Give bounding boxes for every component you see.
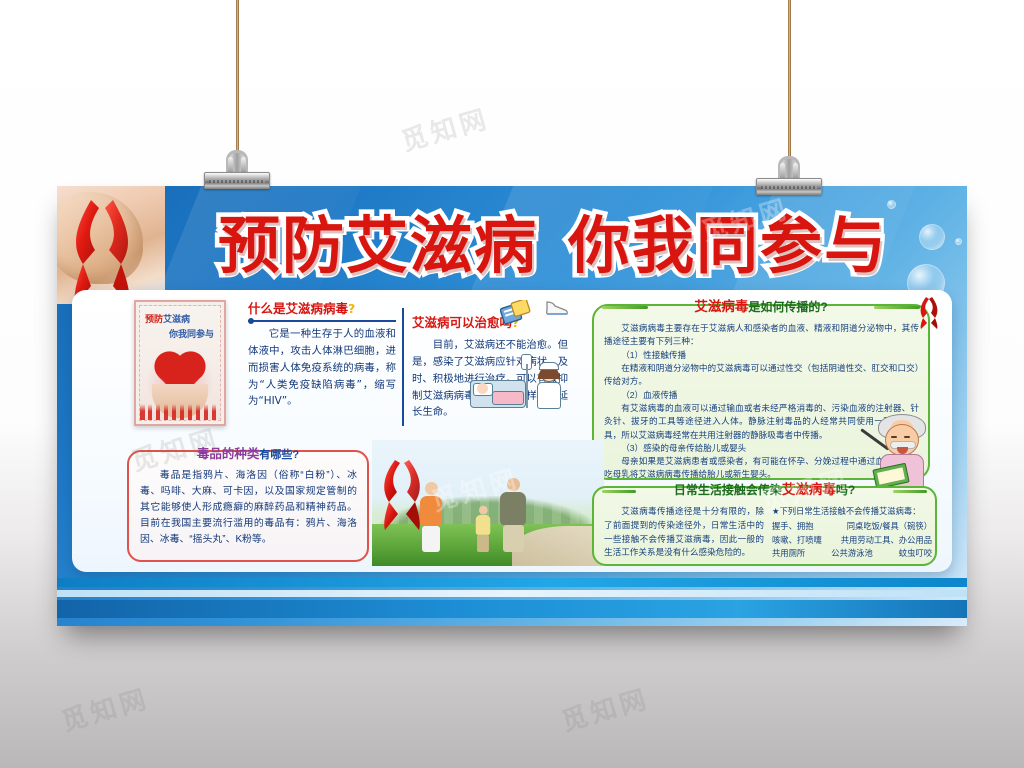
legs-icon — [422, 526, 440, 552]
transmission-item2-title: （2）血液传播 — [604, 389, 919, 402]
daily-life-item: 握手、拥抱 — [772, 520, 814, 533]
bottom-bar-2 — [57, 590, 967, 597]
heading-part-c: 吗? — [836, 483, 855, 497]
blanket-icon — [492, 391, 524, 405]
section-body: 它是一种生存于人的血液和体液中，攻击人体淋巴细胞，进而损害人体免疫系统的病毒，称… — [248, 326, 396, 410]
patient-face-icon — [477, 383, 488, 394]
transmission-item1-title: （1）性接触传播 — [604, 349, 919, 362]
heading-text: 艾滋病可以治愈吗 — [412, 315, 512, 330]
drug-types-box: 毒品的种类有哪些? 毒品是指鸦片、海洛因（俗称“白粉”）、冰毒、吗啡、大麻、可卡… — [127, 450, 369, 562]
heading-rule — [248, 320, 396, 322]
heading-part-a: 日常生活接触会传染 — [674, 483, 782, 497]
mini-poster-inner: 预防艾滋病 你我同参与 — [139, 305, 221, 421]
torso-icon — [476, 515, 491, 535]
heading-blue-text: 有哪些? — [259, 449, 299, 461]
mini-poster-card: 预防艾滋病 你我同参与 — [134, 300, 226, 426]
person-mother-icon — [420, 482, 442, 552]
daily-life-row: 共用厕所 公共游泳池 蚊虫叮咬 — [772, 547, 932, 560]
iv-pole-icon — [526, 364, 528, 408]
heading-red-text: 艾滋病毒 — [694, 299, 748, 314]
daily-life-row: 咳嗽、打喷嚏 共用劳动工具、办公用品 — [772, 534, 932, 547]
bottom-bar-3 — [57, 600, 967, 618]
head-icon — [425, 482, 438, 495]
red-ribbon-icon — [61, 194, 145, 304]
clip-jaw-icon — [204, 172, 270, 189]
banner-header: 预防艾滋病 你我同参与 — [57, 186, 967, 304]
watermark: 觅知网 — [397, 98, 494, 158]
flying-book-icon — [500, 300, 534, 326]
professor-eye-icon — [891, 436, 897, 438]
section-heading: 什么是艾滋病病毒? — [248, 298, 396, 317]
daily-life-right-list: ★下列日常生活接触不会传播艾滋病毒： 握手、拥抱 同桌吃饭/餐具（碗筷） 咳嗽、… — [772, 505, 932, 561]
heading-part-b: 艾滋病毒 — [782, 482, 836, 497]
watermark: 觅知网 — [57, 678, 154, 738]
red-ribbon-icon — [918, 296, 940, 330]
content-panel: 预防艾滋病 你我同参与 什么是艾滋病病毒? 它是一种生存于人的血液和体液中，攻击… — [72, 290, 952, 572]
drug-types-body: 毒品是指鸦片、海洛因（俗称“白粉”）、冰毒、吗啡、大麻、可卡因，以及国家规定管制… — [140, 468, 357, 548]
daily-life-item: 公共游泳池 — [831, 547, 873, 560]
daily-life-item: 蚊虫叮咬 — [899, 547, 932, 560]
watermark: 觅知网 — [557, 678, 654, 738]
daily-life-box: 日常生活接触会传染艾滋病毒吗? 艾滋病毒传播途径是十分有限的，除了前面提到的传染… — [592, 486, 937, 566]
mini-poster-blue-text: 艾滋病 — [163, 314, 190, 324]
head-icon — [507, 478, 520, 491]
legs-icon — [503, 525, 524, 552]
legs-icon — [477, 535, 489, 552]
torso-icon — [420, 496, 442, 526]
nurse-coat-icon — [537, 382, 561, 409]
daily-life-item: 共用劳动工具、办公用品 — [841, 534, 932, 547]
nurse-cap-icon — [539, 362, 559, 370]
head-icon — [479, 506, 488, 515]
heading-green-text: 是如何传播的? — [748, 300, 827, 314]
heading-text: 什么是艾滋病病毒 — [248, 301, 348, 316]
hanging-rope-right — [788, 0, 791, 174]
question-mark-icon: ? — [348, 301, 355, 316]
bottom-bar-1 — [57, 578, 967, 587]
skyline-decoration — [140, 404, 220, 420]
person-father-icon — [500, 478, 526, 552]
daily-life-left-body: 艾滋病毒传播途径是十分有限的，除了前面提到的传染途径外，日常生活中的一些接触不会… — [604, 505, 764, 560]
title-part-2: 你我同参与 — [568, 215, 888, 277]
daily-life-item: 共用厕所 — [772, 547, 805, 560]
heading-purple-text: 毒品的种类 — [197, 447, 260, 461]
page-title: 预防艾滋病 你我同参与 — [173, 198, 933, 294]
daily-life-row: 握手、拥抱 同桌吃饭/餐具（碗筷） — [772, 520, 932, 533]
patient-nurse-icon — [470, 352, 566, 412]
family-photo — [372, 440, 604, 566]
title-part-1: 预防艾滋病 — [218, 215, 538, 277]
daily-life-heading: 日常生活接触会传染艾滋病毒吗? — [594, 478, 935, 499]
transmission-heading: 艾滋病毒是如何传播的? — [594, 295, 928, 316]
section-what-is-hiv: 什么是艾滋病病毒? 它是一种生存于人的血液和体液中，攻击人体淋巴细胞，进而损害人… — [248, 298, 396, 410]
flying-shoe-icon — [544, 296, 570, 318]
daily-life-item: 同桌吃饭/餐具（碗筷） — [847, 520, 932, 533]
daily-life-item: 咳嗽、打喷嚏 — [772, 534, 822, 547]
mini-poster-title-line1: 预防艾滋病 — [145, 313, 190, 325]
binder-clip-right — [756, 156, 822, 196]
torso-icon — [500, 492, 526, 525]
banner-board: 预防艾滋病 你我同参与 预防艾滋病 你我同参与 什么是艾滋病病毒? 它是一种生存… — [57, 186, 967, 626]
hand-holding-ribbon-photo — [57, 186, 165, 304]
red-ribbon-icon — [378, 458, 426, 532]
hanging-rope-left — [236, 0, 239, 168]
daily-life-star-note: ★下列日常生活接触不会传播艾滋病毒： — [772, 505, 932, 518]
drug-types-heading: 毒品的种类有哪些? — [129, 443, 367, 463]
professor-eye-icon — [904, 436, 910, 438]
nurse-icon — [536, 364, 562, 410]
mini-poster-red-text: 预防 — [145, 314, 163, 324]
binder-clip-left — [204, 150, 270, 190]
transmission-item1-body: 在精液和阴道分泌物中的艾滋病毒可以通过性交（包括阴道性交、肛交和口交）传给对方。 — [604, 362, 919, 389]
person-child-icon — [476, 506, 491, 552]
clip-jaw-icon — [756, 178, 822, 195]
mini-poster-title-line2: 你我同参与 — [169, 327, 214, 340]
transmission-intro: 艾滋病病毒主要存在于艾滋病人和感染者的血液、精液和阴道分泌物中，其传播途径主要有… — [604, 322, 919, 349]
vertical-divider — [402, 308, 404, 426]
